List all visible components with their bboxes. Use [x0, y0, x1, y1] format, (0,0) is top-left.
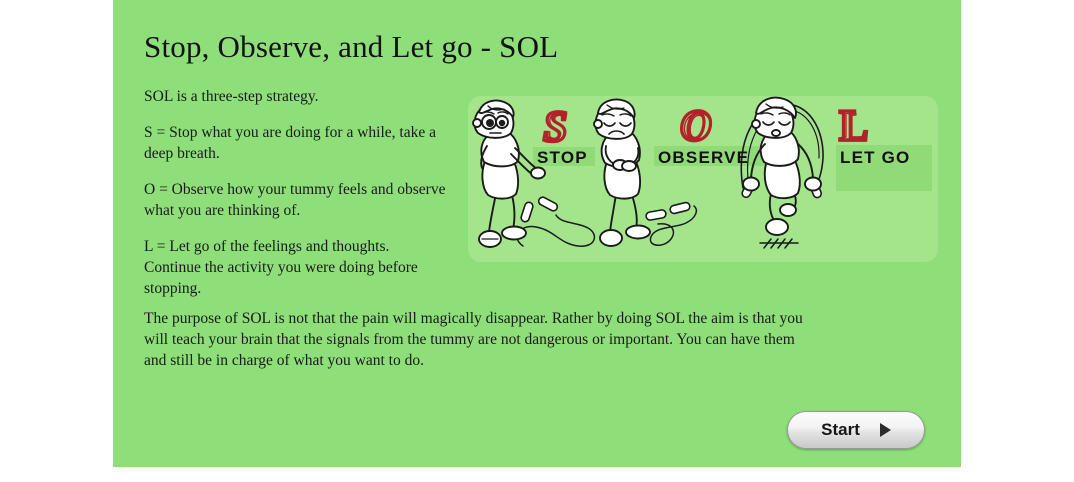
letter-l: L L: [839, 101, 868, 150]
sol-illustration-panel: S S O O L L STOP OBSERVE LET GO: [468, 96, 938, 262]
intro-paragraph: SOL is a three-step strategy.: [144, 86, 449, 107]
svg-text:L: L: [842, 105, 868, 148]
label-stop: STOP: [537, 148, 588, 167]
step-l-paragraph: L = Let go of the feelings and thoughts.…: [144, 236, 449, 299]
svg-text:S: S: [546, 104, 568, 149]
step-description-list: SOL is a three-step strategy. S = Stop w…: [144, 86, 449, 314]
page-title: Stop, Observe, and Let go - SOL: [144, 29, 558, 65]
slide-canvas: Stop, Observe, and Let go - SOL SOL is a…: [0, 0, 1074, 482]
slide-panel: Stop, Observe, and Let go - SOL SOL is a…: [113, 0, 961, 467]
summary-paragraph: The purpose of SOL is not that the pain …: [144, 308, 804, 371]
svg-text:O: O: [683, 105, 711, 148]
start-button[interactable]: Start: [787, 411, 925, 449]
step-o-paragraph: O = Observe how your tummy feels and obs…: [144, 179, 449, 221]
sol-illustration-graphic: S S O O L L STOP OBSERVE LET GO: [468, 96, 938, 262]
figure-stop: [473, 100, 594, 247]
letter-s: S S: [543, 102, 568, 151]
letter-o: O O: [680, 101, 712, 150]
label-observe: OBSERVE: [658, 148, 749, 167]
play-triangle-icon: [880, 423, 891, 437]
figure-letgo: [741, 98, 823, 248]
label-letgo: LET GO: [840, 148, 910, 167]
start-button-label: Start: [821, 420, 860, 440]
step-s-paragraph: S = Stop what you are doing for a while,…: [144, 122, 449, 164]
